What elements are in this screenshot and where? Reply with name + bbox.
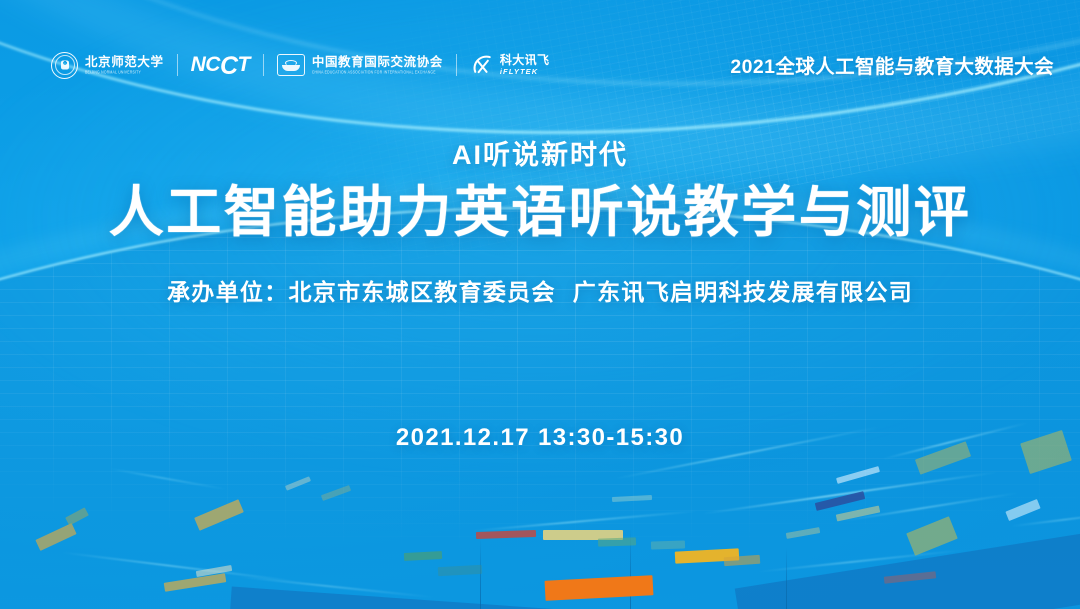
hero-kicker: AI听说新时代 — [0, 140, 1080, 171]
logo-ceaie[interactable]: 中国教育国际交流协会 CHINA EDUCATION ASSOCIATION F… — [264, 54, 456, 76]
ncct-part-2: C — [220, 52, 238, 81]
logo-bnu-cn: 北京师范大学 — [85, 56, 164, 69]
conference-poster: 北京师范大学 BEIJING NORMAL UNIVERSITY NCCT 中国… — [0, 0, 1080, 609]
hero-block: AI听说新时代 人工智能助力英语听说教学与测评 承办单位：北京市东城区教育委员会… — [0, 140, 1080, 307]
ncct-part-1: NC — [191, 53, 220, 77]
logo-bnu-en: BEIJING NORMAL UNIVERSITY — [85, 71, 164, 76]
logo-iflytek-en: iFLYTEK — [500, 68, 550, 76]
logo-bnu-text: 北京师范大学 BEIJING NORMAL UNIVERSITY — [85, 56, 164, 74]
logo-ceaie-cn: 中国教育国际交流协会 — [312, 56, 443, 69]
logo-ceaie-text: 中国教育国际交流协会 CHINA EDUCATION ASSOCIATION F… — [312, 56, 443, 74]
event-datetime: 2021.12.17 13:30-15:30 — [0, 424, 1080, 452]
hero-title: 人工智能助力英语听说教学与测评 — [0, 180, 1080, 245]
host-label: 承办单位： — [167, 279, 289, 305]
poster-content: 北京师范大学 BEIJING NORMAL UNIVERSITY NCCT 中国… — [0, 0, 1080, 609]
conference-name: 2021全球人工智能与教育大数据大会 — [730, 50, 1054, 79]
logo-ceaie-en: CHINA EDUCATION ASSOCIATION FOR INTERNAT… — [312, 71, 443, 76]
logo-iflytek-cn: 科大讯飞 — [500, 54, 550, 66]
logo-iflytek[interactable]: 科大讯飞 iFLYTEK — [457, 54, 563, 77]
sponsor-logo-strip: 北京师范大学 BEIJING NORMAL UNIVERSITY NCCT 中国… — [38, 51, 562, 80]
iflytek-logo-icon — [470, 54, 493, 77]
university-seal-icon — [51, 52, 78, 79]
ceaie-emblem-icon — [277, 54, 305, 76]
host-organization-2: 广东讯飞启明科技发展有限公司 — [573, 279, 913, 305]
ncct-wordmark-icon: NCCT — [191, 51, 250, 80]
host-organization-1: 北京市东城区教育委员会 — [288, 279, 555, 305]
ncct-part-3: T — [238, 53, 250, 77]
host-line: 承办单位：北京市东城区教育委员会广东讯飞启明科技发展有限公司 — [0, 273, 1080, 307]
logo-beijing-normal-university[interactable]: 北京师范大学 BEIJING NORMAL UNIVERSITY — [38, 52, 177, 79]
logo-iflytek-text: 科大讯飞 iFLYTEK — [500, 54, 550, 76]
poster-header: 北京师范大学 BEIJING NORMAL UNIVERSITY NCCT 中国… — [0, 0, 1080, 112]
logo-ncct[interactable]: NCCT — [178, 51, 263, 80]
